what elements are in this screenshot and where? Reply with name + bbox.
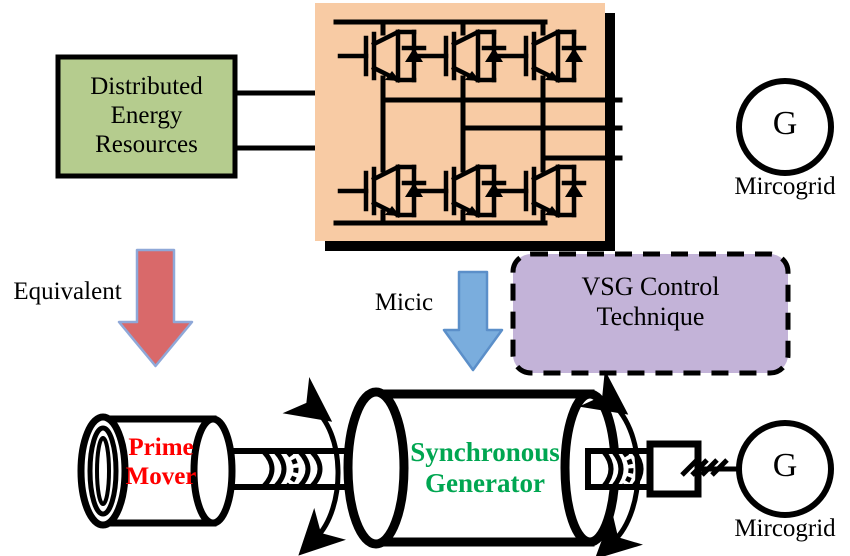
sync-gen-line1: Synchronous [382,437,588,468]
vsg-label-line1: VSG Control [513,272,788,302]
diagram-canvas: Distributed Energy Resources G Mircogrid… [0,0,850,556]
der-label-line2: Energy [58,101,235,130]
equivalent-down-arrow [119,250,192,366]
micic-label: Micic [365,288,443,317]
der-box-label: Distributed Energy Resources [58,72,235,159]
prime-mover-line1: Prime [105,433,217,462]
prime-mover-line2: Mover [105,462,217,491]
prime-mover-label: Prime Mover [105,433,217,491]
der-label-line1: Distributed [58,72,235,101]
bottom-grid-label: Mircogrid [705,514,850,543]
bottom-grid-g-letter: G [755,446,815,485]
der-label-line3: Resources [58,130,235,159]
top-grid-label: Mircogrid [705,172,850,201]
top-grid-g-letter: G [755,104,815,143]
synchronous-generator-label: Synchronous Generator [382,437,588,500]
equivalent-label: Equivalent [5,277,130,306]
vsg-label-line2: Technique [513,302,788,332]
micic-down-arrow [444,272,502,370]
sync-gen-line2: Generator [382,468,588,499]
der-to-inverter-wires [233,93,322,148]
vsg-box-label: VSG Control Technique [513,272,788,332]
